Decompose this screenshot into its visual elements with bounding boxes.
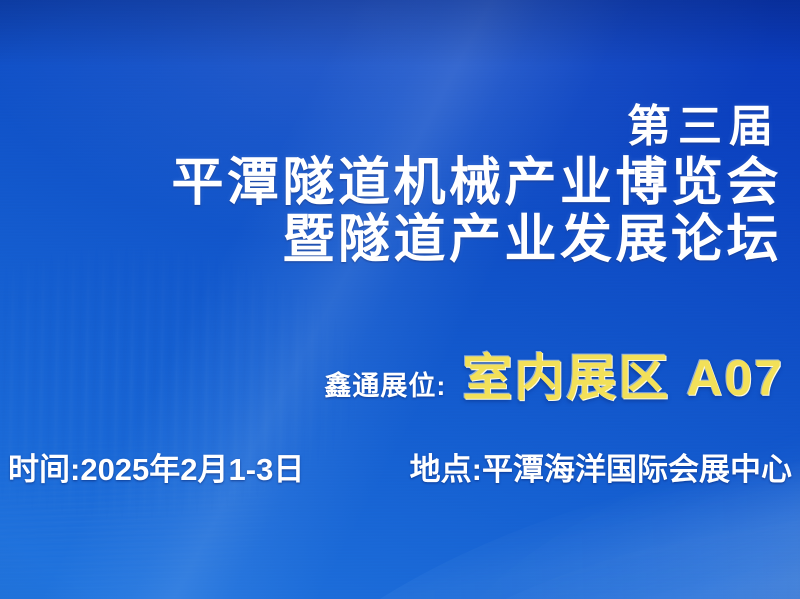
exhibition-banner: 第三届 平潭隧道机械产业博览会 暨隧道产业发展论坛 鑫通展位: 室内展区 A07…	[0, 0, 800, 599]
event-details: 时间:2025年2月1-3日 地点:平潭海洋国际会展中心	[8, 444, 792, 489]
event-date: 时间:2025年2月1-3日	[8, 444, 304, 489]
event-title-line-edition: 第三届	[0, 104, 786, 151]
event-title: 第三届 平潭隧道机械产业博览会 暨隧道产业发展论坛	[0, 104, 786, 268]
event-title-line-forum: 暨隧道产业发展论坛	[0, 213, 786, 268]
banner-content: 第三届 平潭隧道机械产业博览会 暨隧道产业发展论坛 鑫通展位: 室内展区 A07…	[0, 0, 800, 599]
event-venue: 地点:平潭海洋国际会展中心	[410, 444, 792, 489]
booth-label: 鑫通展位:	[324, 364, 446, 403]
booth-info: 鑫通展位: 室内展区 A07	[0, 338, 784, 410]
event-title-line-main: 平潭隧道机械产业博览会	[0, 156, 786, 211]
booth-number: 室内展区 A07	[462, 338, 784, 410]
